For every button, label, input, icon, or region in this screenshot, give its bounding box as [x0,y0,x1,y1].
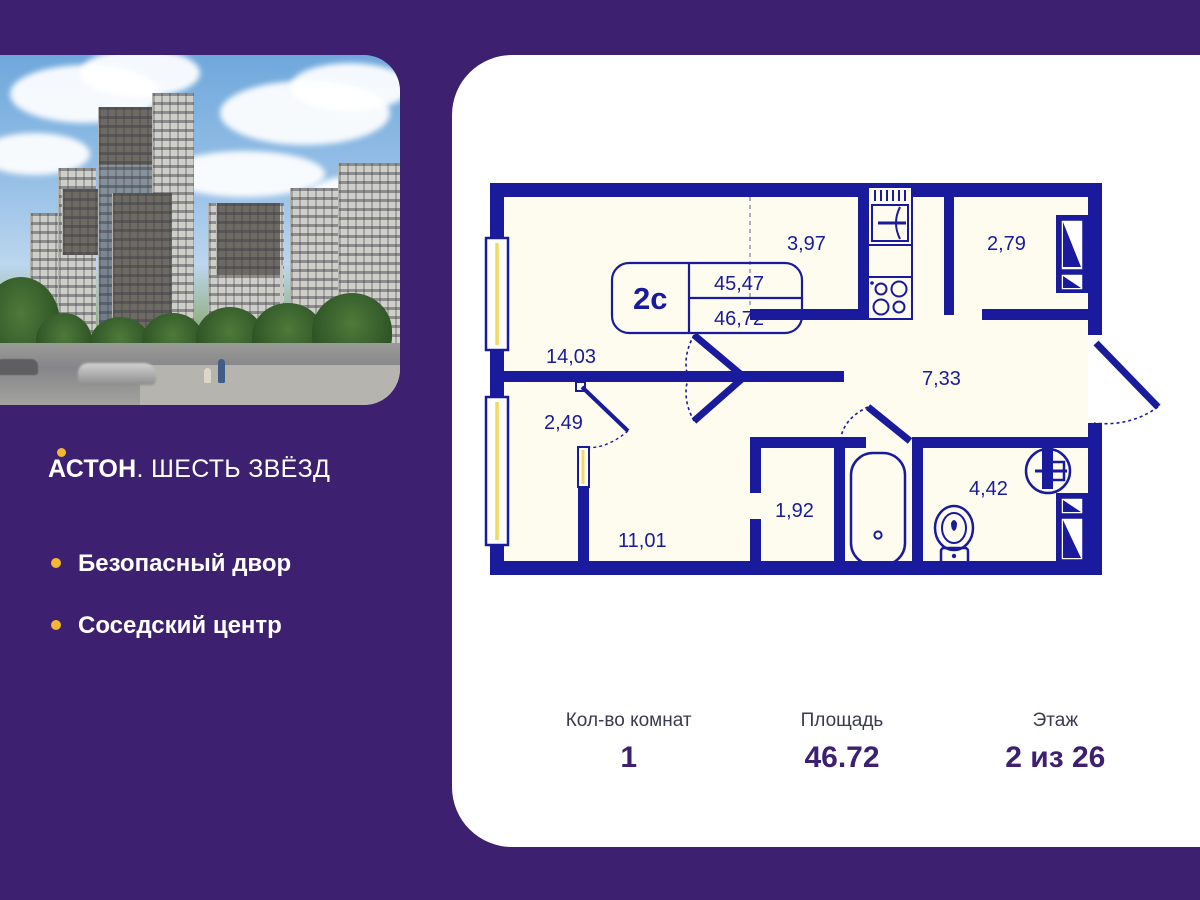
floorplan[interactable]: 14,03 2,49 11,01 3,97 2,79 7,33 1,92 4,4… [482,175,1182,605]
area-kitchen: 3,97 [787,233,826,255]
badge-area-total: 46,72 [714,308,764,330]
stat-area: Площадь 46.72 [735,710,948,775]
badge-area-living: 45,47 [714,273,764,295]
brand-name: АСТОН [48,455,137,483]
sidewalk [140,365,400,405]
stat-label: Кол-во комнат [522,710,735,732]
entrance-door [1094,343,1158,424]
area-bedroom: 11,01 [618,530,667,552]
bullet-icon [51,620,61,630]
kitchen-sink-icon [868,187,912,245]
kitchen-stove-icon [868,277,912,319]
area-wardrobe: 2,79 [987,233,1026,255]
area-storage: 1,92 [775,500,814,522]
window-left-upper [486,238,508,350]
stat-value: 46.72 [735,741,948,775]
wardrobe-top-icon [1056,215,1088,293]
feature-item: Соседский центр [48,612,428,640]
parked-car [0,359,38,375]
feature-label: Безопасный двор [78,550,291,577]
feature-list: Безопасный двор Соседский центр [48,550,428,674]
area-bathroom: 4,42 [969,478,1008,500]
badge-type: 2с [633,281,667,316]
area-living: 14,03 [546,346,596,368]
brand-title: АСТОН. ШЕСТЬ ЗВЁЗД [48,455,330,484]
brand-dot-char: . [137,455,144,483]
floorplan-svg[interactable]: 14,03 2,49 11,01 3,97 2,79 7,33 1,92 4,4… [482,175,1182,605]
area-loggia: 2,49 [544,412,583,434]
wardrobe-bottom-icon [1056,493,1088,565]
pedestrian-child [204,368,211,383]
feature-item: Безопасный двор [48,550,428,578]
stat-value: 1 [522,741,735,775]
left-panel: АСТОН. ШЕСТЬ ЗВЁЗД Безопасный двор Сосед… [0,0,440,900]
bullet-icon [51,558,61,568]
stat-floor: Этаж 2 из 26 [949,710,1162,775]
stat-value: 2 из 26 [949,741,1162,775]
stat-rooms: Кол-во комнат 1 [522,710,735,775]
floorplan-card: 14,03 2,49 11,01 3,97 2,79 7,33 1,92 4,4… [452,55,1200,847]
brand-subtitle: ШЕСТЬ ЗВЁЗД [144,455,330,483]
pedestrian-adult [218,359,225,383]
stat-label: Этаж [949,710,1162,732]
feature-label: Соседский центр [78,612,282,639]
window-left-lower [486,397,508,545]
kitchen-counter [868,245,912,277]
area-hall: 7,33 [922,368,961,390]
stat-label: Площадь [735,710,948,732]
building-photo [0,55,400,405]
car [78,363,156,385]
stats-row: Кол-во комнат 1 Площадь 46.72 Этаж 2 из … [522,710,1162,775]
